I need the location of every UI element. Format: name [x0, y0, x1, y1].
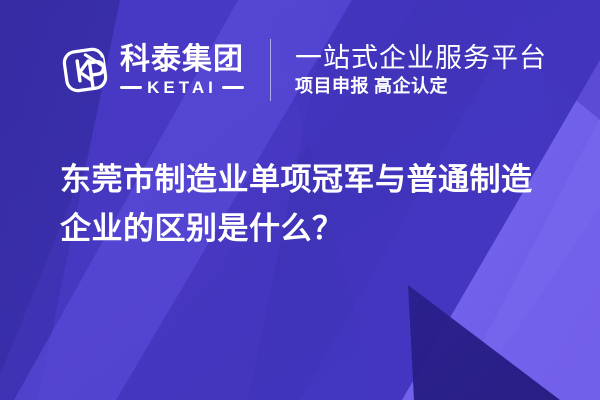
headline-line-2: 企业的区别是什么？: [60, 204, 560, 253]
ketai-diamond-kp-logo-icon: [60, 45, 110, 95]
brand-name-cn: 科泰集团: [120, 45, 244, 75]
promo-banner: 科泰集团 KETAI 一站式企业服务平台 项目申报 高企认定 东莞市制造业单项冠…: [0, 0, 600, 400]
brand-wordmark: 科泰集团 KETAI: [120, 45, 244, 96]
brand-name-en-row: KETAI: [120, 79, 244, 96]
headline-line-1: 东莞市制造业单项冠军与普通制造: [60, 155, 560, 204]
header-divider: [270, 39, 271, 101]
headline: 东莞市制造业单项冠军与普通制造 企业的区别是什么？: [60, 155, 560, 253]
banner-header: 科泰集团 KETAI 一站式企业服务平台 项目申报 高企认定: [0, 0, 600, 140]
brand-logo[interactable]: 科泰集团 KETAI: [60, 45, 244, 96]
slogan-block: 一站式企业服务平台 项目申报 高企认定: [295, 44, 547, 96]
wordmark-rule-left: [120, 86, 142, 89]
slogan-main: 一站式企业服务平台: [295, 44, 547, 72]
slogan-sub: 项目申报 高企认定: [295, 77, 547, 96]
brand-name-en: KETAI: [147, 79, 217, 96]
wordmark-rule-right: [222, 86, 244, 89]
